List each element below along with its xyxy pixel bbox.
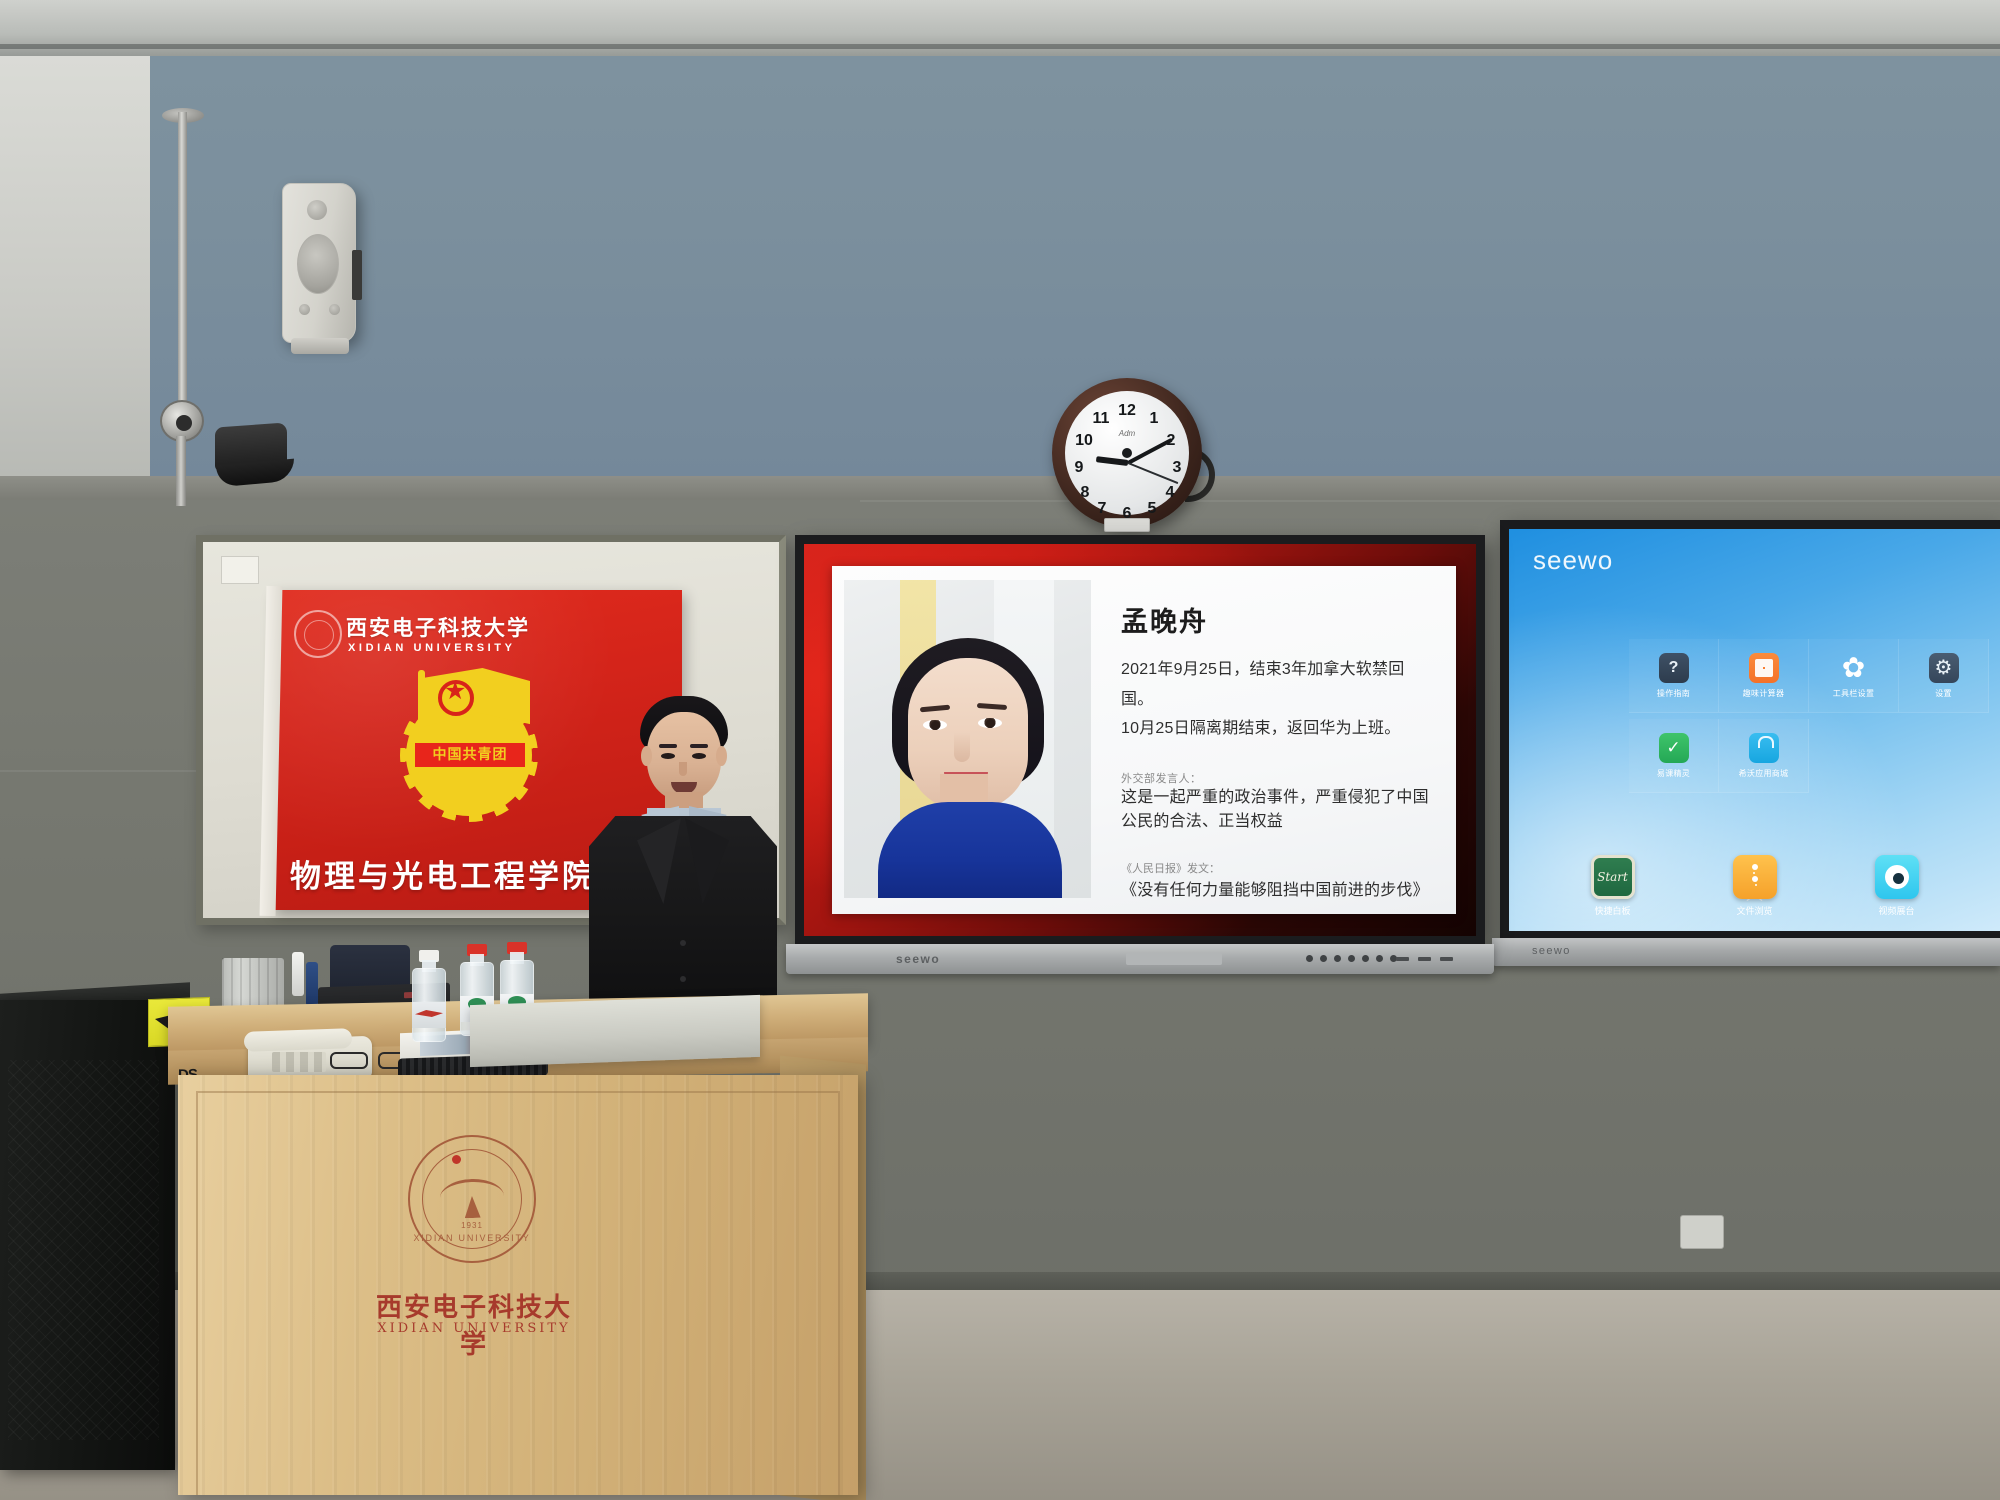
clock-numeral-11: 11 — [1090, 411, 1112, 427]
app-tile-calculator[interactable]: 趣味计算器 — [1719, 639, 1809, 713]
seal-red-dot — [452, 1155, 461, 1164]
easy-class-icon — [1659, 733, 1689, 763]
upper-wall-left-column — [0, 56, 150, 486]
presentation-slide[interactable]: 孟晚舟 2021年9月25日，结束3年加拿大软禁回国。 10月25日隔离期结束，… — [804, 544, 1476, 936]
secondary-interactive-display[interactable]: seewo 操作指南 趣味计算器 工具栏设置 设置 — [1500, 520, 2000, 940]
portrait-pupil-left — [931, 721, 940, 730]
rack-mesh-panel — [8, 1060, 159, 1440]
clock-numeral-12: 12 — [1116, 403, 1138, 419]
telephone-handset[interactable] — [244, 1028, 353, 1052]
speaker-bracket — [352, 250, 362, 300]
clock-numeral-5: 5 — [1141, 501, 1163, 517]
app-tile-operation-guide[interactable]: 操作指南 — [1629, 639, 1719, 713]
speaker-port — [299, 304, 310, 315]
person-nose — [679, 762, 687, 776]
wall-outlet — [1680, 1215, 1724, 1249]
slide-title: 孟晚舟 — [1121, 600, 1434, 639]
bottle-label — [412, 1002, 446, 1028]
emblem-ribbon-text: 中国共青团 — [412, 740, 528, 770]
ir-receiver — [1126, 953, 1222, 965]
app-label: 易课精灵 — [1657, 768, 1690, 779]
taskbar-item-whiteboard[interactable]: 快捷白板 — [1576, 855, 1650, 917]
seewo-bezel-logo: seewo — [1532, 945, 1571, 957]
wall-speaker-icon — [282, 183, 356, 343]
app-grid: 操作指南 趣味计算器 工具栏设置 设置 易课精灵 — [1629, 639, 1989, 793]
clock-numeral-3: 3 — [1166, 460, 1188, 476]
clock-brand-label: Adm — [1105, 429, 1149, 438]
podium-university-name-en: XIDIAN UNIVERSITY — [374, 1321, 574, 1336]
file-browser-icon — [1733, 855, 1777, 899]
av-equipment-rack — [0, 1000, 175, 1470]
clock-label-tag — [1104, 518, 1150, 532]
ceiling — [0, 0, 2000, 62]
bezel-button[interactable] — [1362, 955, 1369, 962]
seewo-bezel-logo: seewo — [896, 952, 940, 966]
guide-book-icon — [1659, 653, 1689, 683]
speaker-woofer — [297, 234, 339, 294]
whiteboard-icon — [1591, 855, 1635, 899]
slide-line-1: 2021年9月25日，结束3年加拿大软禁回国。 — [1121, 655, 1434, 714]
seal-year: 1931 — [408, 1221, 536, 1230]
slide-portrait-photo — [844, 580, 1091, 898]
banner-university-name-en: XIDIAN UNIVERSITY — [348, 642, 516, 654]
app-tile-empty — [1809, 719, 1899, 793]
seal-bird-icon — [439, 1178, 504, 1216]
bezel-port[interactable] — [1440, 957, 1453, 961]
app-tile-settings[interactable]: 设置 — [1899, 639, 1989, 713]
camera-arm — [176, 436, 186, 506]
slide-content-card: 孟晚舟 2021年9月25日，结束3年加拿大软禁回国。 10月25日隔离期结束，… — [832, 566, 1456, 914]
person-eye-left — [661, 753, 675, 759]
speaker-base — [291, 338, 349, 354]
toolbar-settings-icon — [1839, 653, 1869, 683]
clock-numeral-4: 4 — [1159, 485, 1181, 501]
seewo-home-screen[interactable]: seewo 操作指南 趣味计算器 工具栏设置 设置 — [1509, 529, 2000, 931]
bezel-button[interactable] — [1334, 955, 1341, 962]
wall-clock: Adm 12 1 2 3 4 5 6 7 8 9 10 11 — [1052, 378, 1202, 528]
taskbar-label: 文件浏览 — [1736, 904, 1772, 917]
slide-spokesperson-quote-2: 公民的合法、正当权益 — [1121, 810, 1434, 834]
slide-line-2: 10月25日隔离期结束，返回华为上班。 — [1121, 714, 1434, 744]
bezel-port-row[interactable] — [1396, 957, 1453, 961]
app-store-icon — [1749, 733, 1779, 763]
slide-text-block: 孟晚舟 2021年9月25日，结束3年加拿大软禁回国。 10月25日隔离期结束，… — [1091, 566, 1456, 914]
bezel-button[interactable] — [1320, 955, 1327, 962]
clock-numeral-8: 8 — [1074, 485, 1096, 501]
taskbar-item-visualizer[interactable]: 视频展台 — [1860, 855, 1934, 917]
bezel-button-row[interactable] — [1306, 955, 1397, 962]
main-display-bezel: seewo — [786, 944, 1494, 974]
marker-pen-white — [292, 952, 304, 996]
person-eye-right — [692, 753, 706, 759]
app-tile-empty — [1899, 719, 1989, 793]
taskbar-label: 视频展台 — [1878, 904, 1914, 917]
bezel-button[interactable] — [1348, 955, 1355, 962]
clock-hour-hand — [1096, 456, 1128, 466]
university-seal-icon: 1931 XIDIAN UNIVERSITY — [408, 1135, 536, 1263]
banner-university-name-cn: 西安电子科技大学 — [346, 612, 530, 642]
slide-spokesperson-quote-1: 这是一起严重的政治事件，严重侵犯了中国 — [1121, 786, 1434, 810]
person-jacket-button — [680, 940, 686, 946]
app-tile-app-store[interactable]: 希沃应用商城 — [1719, 719, 1809, 793]
app-label: 希沃应用商城 — [1739, 768, 1789, 779]
bezel-port[interactable] — [1418, 957, 1431, 961]
app-tile-toolbar-settings[interactable]: 工具栏设置 — [1809, 639, 1899, 713]
bezel-button[interactable] — [1306, 955, 1313, 962]
lectern-top-panel — [470, 995, 760, 1067]
clock-center-pin — [1122, 448, 1132, 458]
classroom-photo-scene: Adm 12 1 2 3 4 5 6 7 8 9 10 11 西安电子科技大学 … — [0, 0, 2000, 1500]
app-tile-easy-class[interactable]: 易课精灵 — [1629, 719, 1719, 793]
person-brow-left — [659, 744, 677, 748]
clock-numeral-10: 10 — [1073, 433, 1095, 449]
emblem-star-icon — [438, 680, 474, 716]
portrait-nose — [954, 732, 970, 762]
secondary-display-bezel: seewo — [1492, 938, 2000, 966]
whiteboard-sticker — [221, 556, 259, 584]
camera-pole — [178, 112, 187, 412]
ceiling-seam — [0, 44, 2000, 49]
speaker-tweeter — [307, 200, 327, 220]
wall-seam — [860, 500, 2000, 502]
app-label: 工具栏设置 — [1833, 688, 1875, 699]
water-bottle — [412, 952, 446, 1042]
taskbar-label: 快捷白板 — [1594, 904, 1630, 917]
main-interactive-display[interactable]: 孟晚舟 2021年9月25日，结束3年加拿大软禁回国。 10月25日隔离期结束，… — [795, 535, 1485, 945]
podium: 1931 XIDIAN UNIVERSITY 西安电子科技大学 XIDIAN U… — [178, 1075, 858, 1495]
university-seal-icon — [294, 610, 342, 658]
clock-numeral-7: 7 — [1091, 501, 1113, 517]
bezel-button[interactable] — [1376, 955, 1383, 962]
bezel-port[interactable] — [1396, 957, 1409, 961]
app-label: 趣味计算器 — [1743, 688, 1785, 699]
taskbar: 快捷白板 文件浏览 视频展台 — [1509, 855, 2000, 917]
app-label: 设置 — [1935, 688, 1952, 699]
person-jacket-button — [680, 976, 686, 982]
slide-paper-title: 《没有任何力量能够阻挡中国前进的步伐》 — [1121, 876, 1434, 900]
seewo-logo: seewo — [1533, 545, 1613, 576]
speaker-port — [329, 304, 340, 315]
person-brow-right — [690, 744, 708, 748]
clock-face: Adm 12 1 2 3 4 5 6 7 8 9 10 11 — [1065, 391, 1189, 515]
person-ear-right — [716, 746, 727, 766]
telephone-keypad[interactable] — [272, 1052, 326, 1072]
clock-numeral-1: 1 — [1143, 411, 1165, 427]
marker-pen-blue — [306, 962, 318, 1006]
calculator-icon — [1749, 653, 1779, 683]
communist-youth-league-emblem-icon: 中国共青团 — [384, 668, 564, 816]
person-ear-left — [641, 746, 652, 766]
gear-settings-icon — [1929, 653, 1959, 683]
portrait-pupil-right — [986, 719, 995, 728]
presenter-person — [585, 690, 780, 1000]
visualizer-camera-icon — [1875, 855, 1919, 899]
slide-paper-label: 《人民日报》发文： — [1121, 860, 1434, 876]
taskbar-item-file-browser[interactable]: 文件浏览 — [1718, 855, 1792, 917]
app-label: 操作指南 — [1657, 688, 1690, 699]
slide-spokesperson-label: 外交部发言人： — [1121, 770, 1434, 786]
portrait-blue-top — [878, 802, 1062, 898]
clock-numeral-9: 9 — [1068, 460, 1090, 476]
seal-english-name: XIDIAN UNIVERSITY — [408, 1233, 536, 1243]
